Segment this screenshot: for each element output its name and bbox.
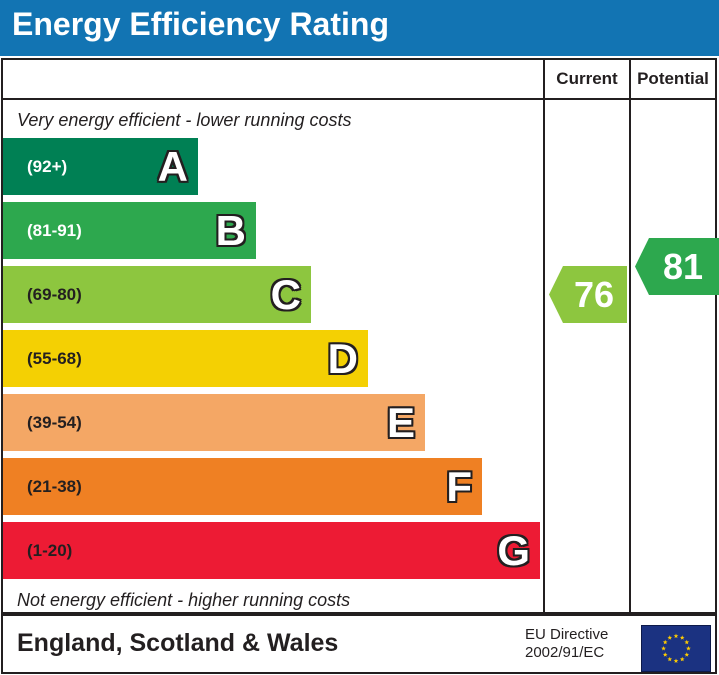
title-banner: Energy Efficiency Rating [0, 0, 719, 56]
eu-flag-svg [642, 626, 710, 671]
band-letter-e: E [387, 402, 415, 444]
band-letter-f: F [446, 466, 472, 508]
current-rating-value: 76 [574, 277, 614, 313]
page-title: Energy Efficiency Rating [12, 6, 389, 43]
potential-rating-value: 81 [663, 249, 703, 285]
band-row-b: (81-91) B [3, 202, 256, 259]
footer-bar: England, Scotland & Wales EU Directive 2… [1, 614, 717, 674]
column-header-row: Current Potential [3, 60, 715, 100]
caption-efficient: Very energy efficient - lower running co… [17, 110, 352, 131]
band-range-b: (81-91) [27, 221, 82, 241]
band-row-c: (69-80) C [3, 266, 311, 323]
energy-efficiency-certificate: Energy Efficiency Rating Current Potenti… [0, 0, 719, 675]
band-range-a: (92+) [27, 157, 67, 177]
band-row-g: (1-20) G [3, 522, 540, 579]
footer-region-label: England, Scotland & Wales [17, 629, 338, 658]
potential-rating-arrow: 81 [635, 238, 719, 295]
column-header-potential: Potential [631, 69, 715, 89]
band-range-g: (1-20) [27, 541, 72, 561]
chart-frame: Current Potential Very energy efficient … [1, 58, 717, 614]
column-divider-potential [629, 60, 631, 612]
eu-flag-icon [641, 625, 711, 672]
directive-line-1: EU Directive [525, 626, 608, 644]
band-row-e: (39-54) E [3, 394, 425, 451]
directive-line-2: 2002/91/EC [525, 644, 608, 662]
column-divider-current [543, 60, 545, 612]
band-letter-c: C [271, 274, 301, 316]
band-letter-b: B [216, 210, 246, 252]
band-range-e: (39-54) [27, 413, 82, 433]
footer-directive: EU Directive 2002/91/EC [525, 626, 608, 662]
column-header-current: Current [545, 69, 629, 89]
band-row-d: (55-68) D [3, 330, 368, 387]
band-letter-a: A [158, 146, 188, 188]
rating-bands: (92+) A (81-91) B (69-80) C (55-68) D (3… [3, 138, 543, 583]
band-range-d: (55-68) [27, 349, 82, 369]
caption-inefficient: Not energy efficient - higher running co… [17, 590, 350, 611]
band-range-c: (69-80) [27, 285, 82, 305]
band-row-f: (21-38) F [3, 458, 482, 515]
band-row-a: (92+) A [3, 138, 198, 195]
current-rating-arrow: 76 [549, 266, 627, 323]
band-letter-g: G [497, 530, 530, 572]
band-range-f: (21-38) [27, 477, 82, 497]
band-letter-d: D [328, 338, 358, 380]
